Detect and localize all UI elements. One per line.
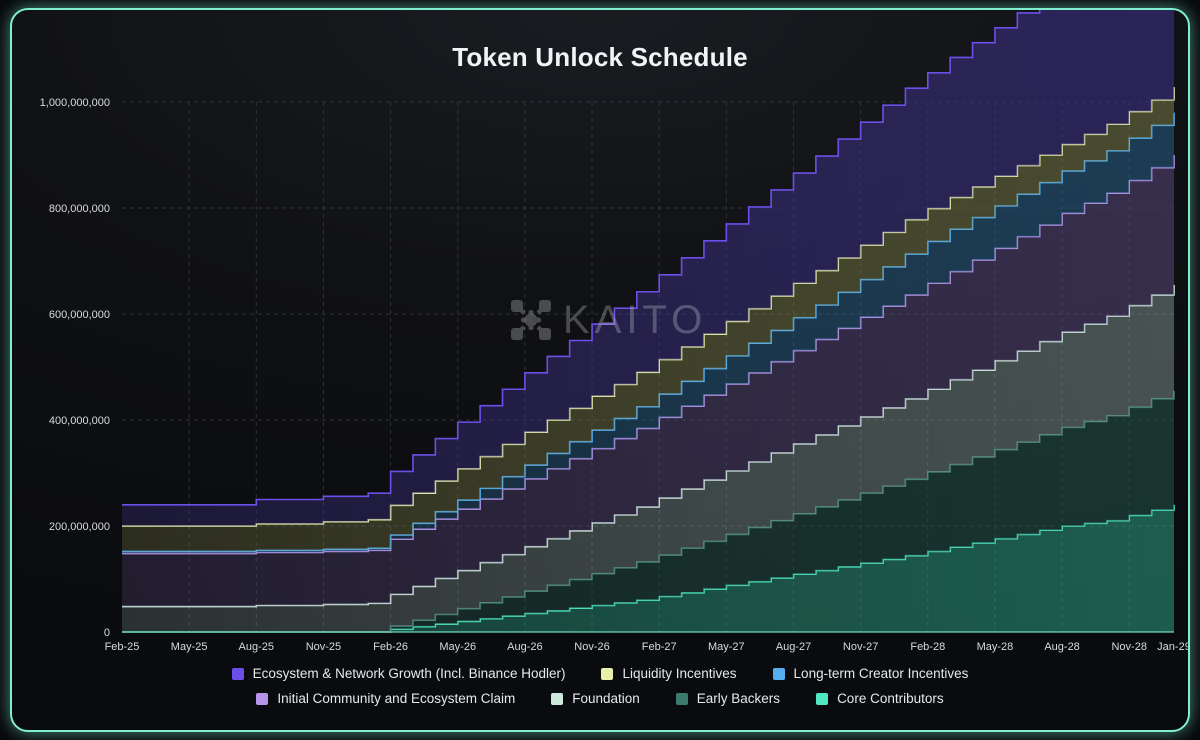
legend-item[interactable]: Early Backers — [676, 691, 780, 706]
legend-item[interactable]: Foundation — [551, 691, 640, 706]
legend-item-label: Initial Community and Ecosystem Claim — [277, 691, 515, 706]
x-axis-tick-label: Nov-26 — [574, 641, 609, 653]
x-axis-tick-label: Aug-28 — [1044, 641, 1079, 653]
legend-swatch-icon — [232, 668, 244, 680]
y-axis-tick-label: 800,000,000 — [49, 203, 110, 215]
legend-swatch-icon — [816, 693, 828, 705]
x-axis-tick-label: Aug-26 — [507, 641, 542, 653]
y-axis-tick-label: 200,000,000 — [49, 521, 110, 533]
y-axis-tick-label: 0 — [104, 627, 110, 639]
x-axis-tick-label: Aug-27 — [776, 641, 811, 653]
chart-page: Token Unlock Schedule 0200,000,000400,00… — [0, 0, 1200, 740]
x-axis-tick-label: Jan-29 — [1157, 641, 1190, 653]
x-axis-tick-label: Feb-25 — [105, 641, 140, 653]
legend-swatch-icon — [773, 668, 785, 680]
x-axis-tick-label: Feb-26 — [373, 641, 408, 653]
legend-swatch-icon — [676, 693, 688, 705]
legend-item[interactable]: Initial Community and Ecosystem Claim — [256, 691, 515, 706]
x-axis-tick-label: May-25 — [171, 641, 208, 653]
y-axis-tick-label: 400,000,000 — [49, 415, 110, 427]
legend-item[interactable]: Long-term Creator Incentives — [773, 666, 969, 681]
legend-item-label: Foundation — [572, 691, 640, 706]
y-axis-tick-label: 1,000,000,000 — [40, 97, 110, 109]
x-axis-tick-label: Nov-27 — [843, 641, 878, 653]
legend-item-label: Liquidity Incentives — [622, 666, 736, 681]
legend-row-2: Initial Community and Ecosystem ClaimFou… — [12, 691, 1188, 706]
x-axis-tick-label: Nov-25 — [306, 641, 341, 653]
legend-item-label: Long-term Creator Incentives — [794, 666, 969, 681]
legend-row-1: Ecosystem & Network Growth (Incl. Binanc… — [12, 666, 1188, 681]
x-axis-tick-label: Aug-25 — [239, 641, 274, 653]
x-axis-tick-label: May-28 — [977, 641, 1014, 653]
y-axis-tick-label: 600,000,000 — [49, 309, 110, 321]
legend-item-label: Ecosystem & Network Growth (Incl. Binanc… — [253, 666, 566, 681]
legend-swatch-icon — [256, 693, 268, 705]
legend-item[interactable]: Ecosystem & Network Growth (Incl. Binanc… — [232, 666, 566, 681]
legend-swatch-icon — [551, 693, 563, 705]
legend-item[interactable]: Core Contributors — [816, 691, 944, 706]
x-axis-tick-label: May-26 — [439, 641, 476, 653]
legend-item[interactable]: Liquidity Incentives — [601, 666, 736, 681]
legend-item-label: Core Contributors — [837, 691, 944, 706]
chart-legend: Ecosystem & Network Growth (Incl. Binanc… — [12, 666, 1188, 716]
legend-item-label: Early Backers — [697, 691, 780, 706]
chart-card: Token Unlock Schedule 0200,000,000400,00… — [10, 8, 1190, 732]
x-axis-tick-label: Nov-28 — [1111, 641, 1146, 653]
x-axis-tick-label: Feb-28 — [910, 641, 945, 653]
x-axis-tick-label: Feb-27 — [642, 641, 677, 653]
chart-plot-area: 0200,000,000400,000,000600,000,000800,00… — [12, 10, 1190, 732]
x-axis-tick-label: May-27 — [708, 641, 745, 653]
stacked-area-chart[interactable]: 0200,000,000400,000,000600,000,000800,00… — [12, 10, 1190, 732]
legend-swatch-icon — [601, 668, 613, 680]
